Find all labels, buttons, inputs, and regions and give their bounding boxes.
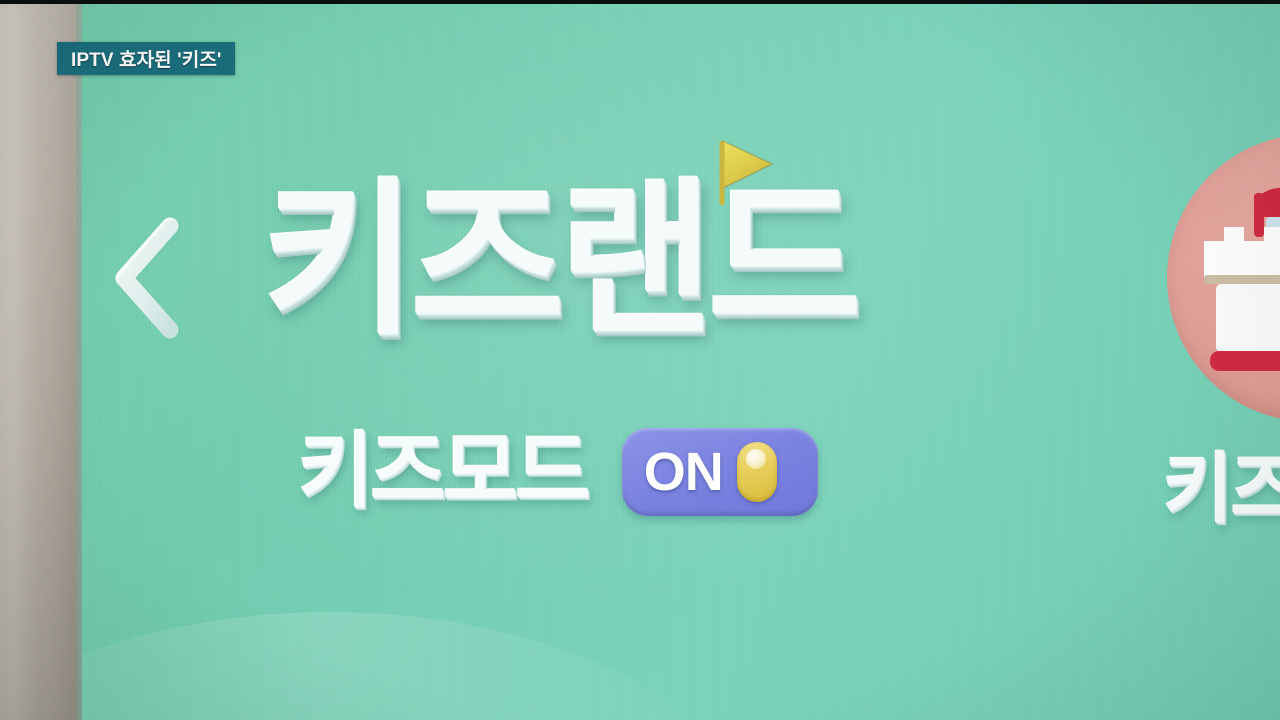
tv-screenshot: 키즈랜드 키즈모드 ON xyxy=(0,0,1280,720)
left-wall-strip xyxy=(0,0,82,720)
kids-mode-toggle[interactable]: ON xyxy=(622,428,818,516)
news-caption-banner: IPTV 효자된 '키즈' xyxy=(57,42,235,75)
toggle-state-label: ON xyxy=(644,445,723,499)
castle-icon xyxy=(1196,175,1280,381)
back-button[interactable] xyxy=(108,216,182,340)
left-wall-edge xyxy=(76,0,82,720)
triangle-flag-icon xyxy=(716,136,778,206)
screen-background xyxy=(0,0,1280,720)
left-wall-sheen xyxy=(0,0,82,720)
news-caption-text: IPTV 효자된 '키즈' xyxy=(71,45,222,72)
castle-tile-caption: 키즈 xyxy=(1163,452,1280,528)
top-letterbox-bar xyxy=(0,0,1280,4)
kids-mode-label: 키즈모드 xyxy=(298,431,588,513)
kids-mode-row: 키즈모드 ON xyxy=(298,428,818,516)
toggle-knob[interactable] xyxy=(737,442,777,502)
chevron-left-icon xyxy=(108,216,182,340)
